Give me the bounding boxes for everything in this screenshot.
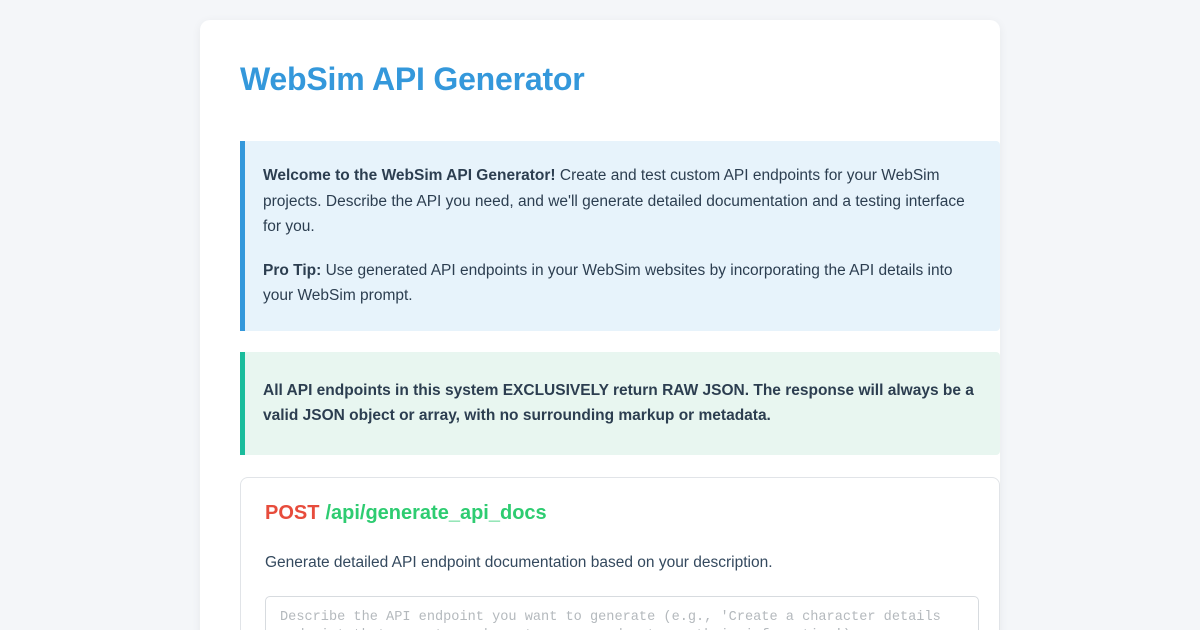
endpoint-method-badge: POST (265, 502, 319, 524)
api-description-input[interactable] (265, 596, 979, 630)
protip-lead: Pro Tip: (263, 262, 321, 279)
welcome-lead: Welcome to the WebSim API Generator! (263, 167, 556, 184)
main-container: WebSim API Generator Welcome to the WebS… (200, 20, 1000, 630)
info-notice: Welcome to the WebSim API Generator! Cre… (240, 141, 1000, 331)
endpoint-path: /api/generate_api_docs (325, 502, 546, 524)
protip-body: Use generated API endpoints in your WebS… (263, 262, 953, 305)
raw-json-notice: All API endpoints in this system EXCLUSI… (240, 352, 1000, 455)
endpoint-description: Generate detailed API endpoint documenta… (265, 552, 975, 574)
page-title: WebSim API Generator (220, 60, 980, 98)
protip-paragraph: Pro Tip: Use generated API endpoints in … (263, 258, 982, 309)
endpoint-heading: POST/api/generate_api_docs (265, 500, 975, 526)
page-root: WebSim API Generator Welcome to the WebS… (0, 0, 1200, 630)
raw-json-notice-text: All API endpoints in this system EXCLUSI… (263, 378, 982, 429)
welcome-paragraph: Welcome to the WebSim API Generator! Cre… (263, 163, 982, 240)
endpoint-card-generate-api-docs: POST/api/generate_api_docs Generate deta… (240, 477, 1000, 630)
